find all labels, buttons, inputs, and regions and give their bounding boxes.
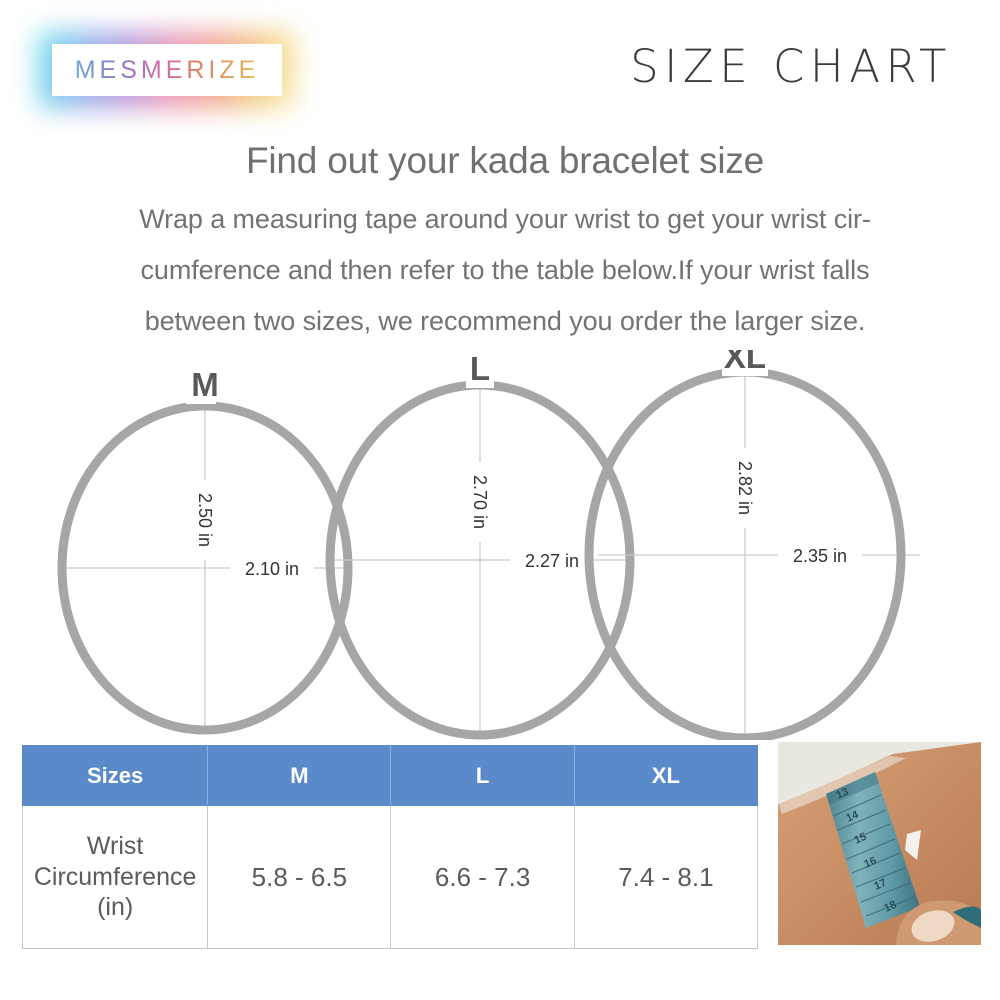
cell-wrist-xl: 7.4 - 8.1 <box>574 806 757 949</box>
size-table: Sizes M L XL Wrist Circumference (in) 5.… <box>22 745 758 949</box>
intro-line-1: Wrap a measuring tape around your wrist … <box>50 194 960 245</box>
intro-heading: Find out your kada bracelet size <box>50 140 960 182</box>
oval-width-label-xl: 2.35 in <box>793 546 847 566</box>
oval-diagram: M 2.10 in 2.50 in L 2.27 in 2.70 in XL 2… <box>0 350 1000 740</box>
page-title: SIZE CHART <box>630 40 952 93</box>
table-header-row: Sizes M L XL <box>23 746 758 806</box>
row-label-wrist-circumference: Wrist Circumference (in) <box>23 806 208 949</box>
row-label-line-2: Circumference <box>24 862 206 893</box>
cell-wrist-m: 5.8 - 6.5 <box>208 806 391 949</box>
wrist-measuring-photo: 13 14 15 16 17 18 <box>778 742 981 945</box>
intro-block: Find out your kada bracelet size Wrap a … <box>50 140 960 346</box>
table-header-xl: XL <box>574 746 757 806</box>
oval-size-label-xl: XL <box>724 350 766 375</box>
oval-width-label-l: 2.27 in <box>525 551 579 571</box>
oval-size-label-m: M <box>191 366 219 403</box>
row-label-line-1: Wrist <box>24 831 206 862</box>
table-header-sizes: Sizes <box>23 746 208 806</box>
intro-line-2: cumference and then refer to the table b… <box>50 245 960 296</box>
oval-size-label-l: L <box>470 350 490 387</box>
intro-line-3: between two sizes, we recommend you orde… <box>50 296 960 347</box>
cell-wrist-l: 6.6 - 7.3 <box>391 806 574 949</box>
oval-width-label-m: 2.10 in <box>245 559 299 579</box>
brand-logo: MESMERIZE <box>52 44 282 96</box>
row-label-line-3: (in) <box>24 892 206 923</box>
oval-height-label-xl: 2.82 in <box>735 461 755 515</box>
logo-text: MESMERIZE <box>52 44 282 96</box>
oval-height-label-m: 2.50 in <box>195 493 215 547</box>
table-header-l: L <box>391 746 574 806</box>
table-row: Wrist Circumference (in) 5.8 - 6.5 6.6 -… <box>23 806 758 949</box>
oval-group-xl: XL 2.35 in 2.82 in <box>589 350 920 738</box>
table-header-m: M <box>208 746 391 806</box>
oval-height-label-l: 2.70 in <box>470 475 490 529</box>
oval-group-m: M 2.10 in 2.50 in <box>62 360 348 730</box>
